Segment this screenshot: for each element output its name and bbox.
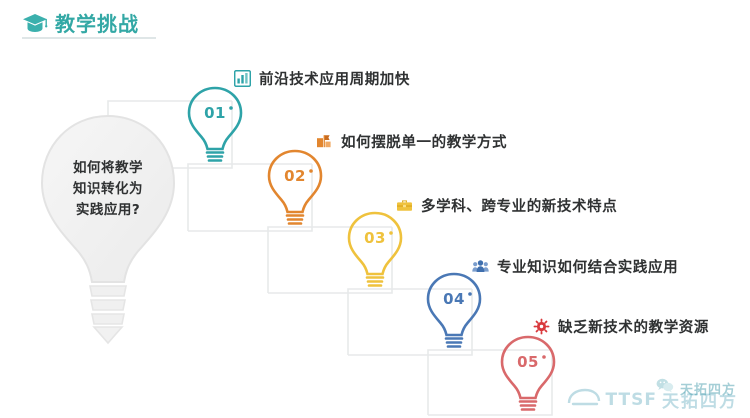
flag-book-icon	[316, 133, 333, 150]
brand-mark-text: TTSF	[606, 390, 657, 410]
brand-watermark: TTSF 天拓四方	[567, 387, 738, 412]
brand-name-text: 天拓四方	[662, 387, 738, 412]
lightbulb-icon	[495, 333, 561, 415]
lightbulb-icon	[182, 84, 248, 166]
brand-swoosh-icon	[567, 387, 601, 412]
node-04[interactable]: 04	[421, 270, 487, 352]
slide-canvas: 教学挑战	[0, 0, 750, 418]
node-number: 03	[342, 229, 408, 247]
page-header: 教学挑战	[22, 8, 139, 37]
node-05-label-text: 缺乏新技术的教学资源	[558, 316, 709, 337]
graduation-cap-icon	[22, 12, 48, 34]
node-02-label-text: 如何摆脱单一的教学方式	[341, 131, 507, 152]
main-question-text: 如何将教学 知识转化为 实践应用?	[28, 158, 188, 221]
main-question-bulb: 如何将教学 知识转化为 实践应用?	[28, 110, 188, 360]
node-number: 05	[495, 353, 561, 371]
node-04-label: 专业知识如何结合实践应用	[472, 256, 678, 277]
bar-chart-icon	[234, 70, 251, 87]
node-number: 04	[421, 290, 487, 308]
node-01[interactable]: 01	[182, 84, 248, 166]
lightbulb-icon	[262, 147, 328, 229]
node-number: 01	[182, 104, 248, 122]
main-question-line-2: 知识转化为	[28, 179, 188, 200]
node-02-label: 如何摆脱单一的教学方式	[316, 131, 507, 152]
node-01-label-text: 前沿技术应用周期加快	[259, 68, 410, 89]
node-04-label-text: 专业知识如何结合实践应用	[497, 256, 678, 277]
lightbulb-icon	[28, 110, 188, 360]
lightbulb-icon	[342, 209, 408, 291]
node-01-label: 前沿技术应用周期加快	[234, 68, 410, 89]
main-question-line-3: 实践应用?	[28, 200, 188, 221]
header-divider	[22, 37, 156, 39]
node-05-label: 缺乏新技术的教学资源	[533, 316, 709, 337]
node-03[interactable]: 03	[342, 209, 408, 291]
briefcase-icon	[396, 197, 413, 214]
node-03-label: 多学科、跨专业的新技术特点	[396, 195, 617, 216]
gear-flower-icon	[533, 318, 550, 335]
page-title: 教学挑战	[55, 8, 139, 37]
main-question-line-1: 如何将教学	[28, 158, 188, 179]
lightbulb-icon	[421, 270, 487, 352]
node-02[interactable]: 02	[262, 147, 328, 229]
node-number: 02	[262, 167, 328, 185]
node-05[interactable]: 05	[495, 333, 561, 415]
people-group-icon	[472, 258, 489, 275]
node-03-label-text: 多学科、跨专业的新技术特点	[421, 195, 617, 216]
